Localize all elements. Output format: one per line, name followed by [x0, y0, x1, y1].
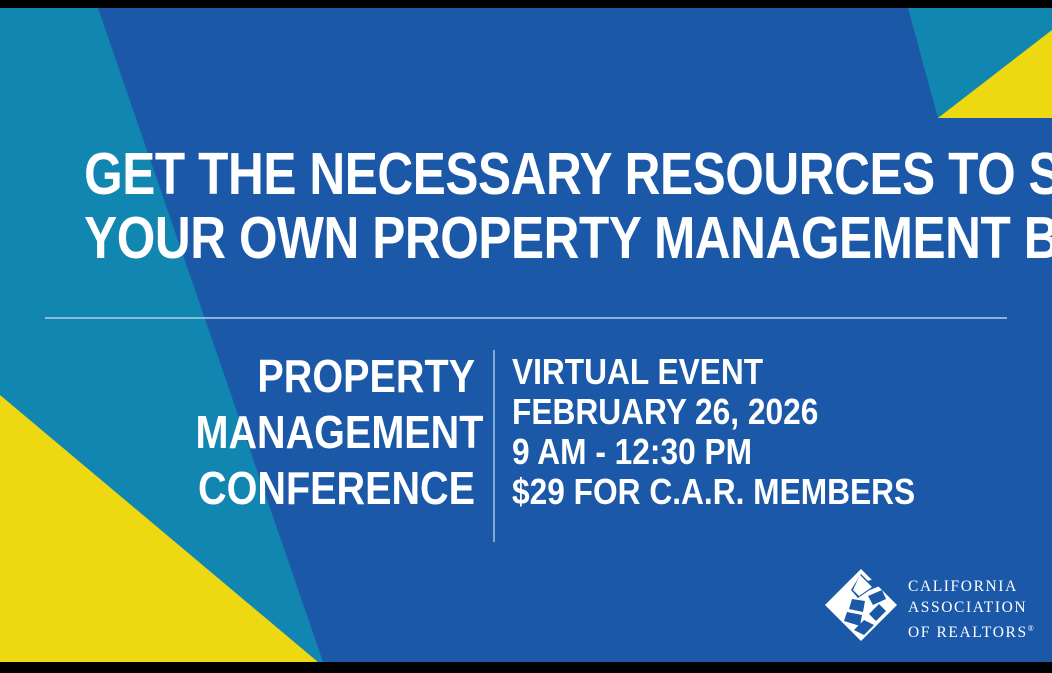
event-details: VIRTUAL EVENT FEBRUARY 26, 2026 9 AM - 1…	[512, 352, 970, 512]
event-name: PROPERTY MANAGEMENT CONFERENCE	[196, 348, 476, 516]
car-logo-text: CALIFORNIA ASSOCIATION OF REALTORS®	[908, 576, 1034, 643]
background-shapes	[0, 8, 1052, 662]
headline-line-2: YOUR OWN PROPERTY MANAGEMENT BUSINESS	[84, 206, 968, 270]
event-price: $29 FOR C.A.R. MEMBERS	[512, 472, 970, 512]
registered-trademark-icon: ®	[1028, 624, 1034, 633]
event-time: 9 AM - 12:30 PM	[512, 432, 970, 472]
logo-line-association: ASSOCIATION	[908, 597, 1034, 618]
event-name-line-1: PROPERTY	[196, 348, 476, 404]
event-date: FEBRUARY 26, 2026	[512, 392, 970, 432]
promotional-banner: GET THE NECESSARY RESOURCES TO SUPPORT Y…	[0, 0, 1052, 673]
banner-canvas: GET THE NECESSARY RESOURCES TO SUPPORT Y…	[0, 8, 1052, 662]
banner-headline: GET THE NECESSARY RESOURCES TO SUPPORT Y…	[84, 142, 968, 270]
car-logo: CALIFORNIA ASSOCIATION OF REALTORS®	[824, 566, 1024, 646]
horizontal-divider	[45, 317, 1007, 319]
event-name-line-2: MANAGEMENT	[196, 404, 476, 460]
headline-line-1: GET THE NECESSARY RESOURCES TO SUPPORT	[84, 142, 968, 206]
logo-of-realtors-label: OF REALTORS	[908, 624, 1028, 641]
event-format: VIRTUAL EVENT	[512, 352, 970, 392]
logo-line-california: CALIFORNIA	[908, 576, 1034, 597]
logo-line-of-realtors: OF REALTORS®	[908, 618, 1034, 643]
event-info-block: PROPERTY MANAGEMENT CONFERENCE VIRTUAL E…	[0, 348, 1052, 553]
event-name-line-3: CONFERENCE	[196, 460, 476, 516]
california-association-of-realtors-diamond-icon	[824, 568, 898, 642]
vertical-divider	[493, 350, 495, 542]
